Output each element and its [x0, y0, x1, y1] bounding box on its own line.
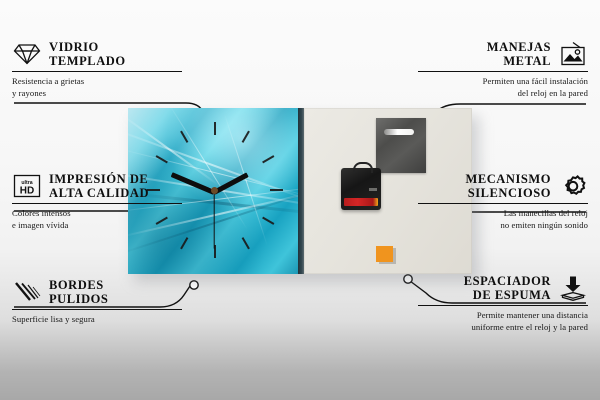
feature-description: Las manecillas del reloj no emiten ningú…	[418, 208, 588, 231]
movement-hanger-loop	[353, 162, 373, 173]
feature-divider	[12, 203, 182, 204]
feature-header: ultra HD IMPRESIÓN DE ALTA CALIDAD	[12, 172, 182, 200]
ultra-hd-icon: ultra HD	[12, 172, 42, 200]
feature-description: Permite mantener una distancia uniforme …	[418, 310, 588, 333]
svg-text:HD: HD	[20, 186, 34, 197]
feature-divider	[418, 305, 588, 306]
feature-bordes-pulidos: BORDES PULIDOS Superficie lisa y segura	[12, 278, 182, 326]
gear-icon	[558, 172, 588, 200]
feature-header: MANEJAS METAL	[418, 40, 588, 68]
clock-tick	[262, 217, 274, 225]
clock-tick	[242, 131, 250, 143]
feature-title: ESPACIADOR DE ESPUMA	[464, 274, 551, 302]
clock-center-cap	[211, 187, 218, 194]
feature-title: VIDRIO TEMPLADO	[49, 40, 126, 68]
clock-tick	[180, 237, 188, 249]
product-infographic: VIDRIO TEMPLADO Resistencia a grietas y …	[0, 0, 600, 400]
battery-compartment	[344, 198, 378, 206]
movement-detail	[369, 188, 377, 191]
clock-tick	[270, 189, 283, 191]
feature-divider	[12, 71, 182, 72]
hanger-keyhole-slot	[384, 129, 414, 135]
metal-hanger-plate	[376, 118, 426, 173]
foam-spacer-pad	[376, 246, 393, 262]
quartz-movement	[341, 168, 381, 210]
feature-divider	[418, 71, 588, 72]
feature-title: BORDES PULIDOS	[49, 278, 108, 306]
feature-description: Superficie lisa y segura	[12, 314, 182, 326]
feature-title: IMPRESIÓN DE ALTA CALIDAD	[49, 172, 149, 200]
feature-title: MANEJAS METAL	[487, 40, 551, 68]
feature-divider	[12, 309, 182, 310]
feature-description: Resistencia a grietas y rayones	[12, 76, 182, 99]
polished-edges-icon	[12, 278, 42, 306]
feature-header: VIDRIO TEMPLADO	[12, 40, 182, 68]
feature-header: MECANISMO SILENCIOSO	[418, 172, 588, 200]
feature-vidrio-templado: VIDRIO TEMPLADO Resistencia a grietas y …	[12, 40, 182, 99]
clock-second-hand	[213, 192, 214, 249]
feature-header: ESPACIADOR DE ESPUMA	[418, 274, 588, 302]
feature-description: Colores intensos e imagen vívida	[12, 208, 182, 231]
feature-impresion-alta-calidad: ultra HD IMPRESIÓN DE ALTA CALIDAD Color…	[12, 172, 182, 231]
picture-hanger-icon	[558, 40, 588, 68]
feature-manejas-metal: MANEJAS METAL Permiten una fácil instala…	[418, 40, 588, 99]
foam-spacer-icon	[558, 274, 588, 302]
clock-tick	[242, 237, 250, 249]
feature-divider	[418, 203, 588, 204]
feature-espaciador-espuma: ESPACIADOR DE ESPUMA Permite mantener un…	[418, 274, 588, 333]
feature-header: BORDES PULIDOS	[12, 278, 182, 306]
feature-mecanismo-silencioso: MECANISMO SILENCIOSO Las manecillas del …	[418, 172, 588, 231]
clock-tick	[214, 122, 216, 135]
feature-description: Permiten una fácil instalación del reloj…	[418, 76, 588, 99]
diamond-icon	[12, 40, 42, 68]
connector-dot-bordes	[190, 281, 198, 289]
clock-tick	[262, 155, 274, 163]
feature-title: MECANISMO SILENCIOSO	[465, 172, 551, 200]
